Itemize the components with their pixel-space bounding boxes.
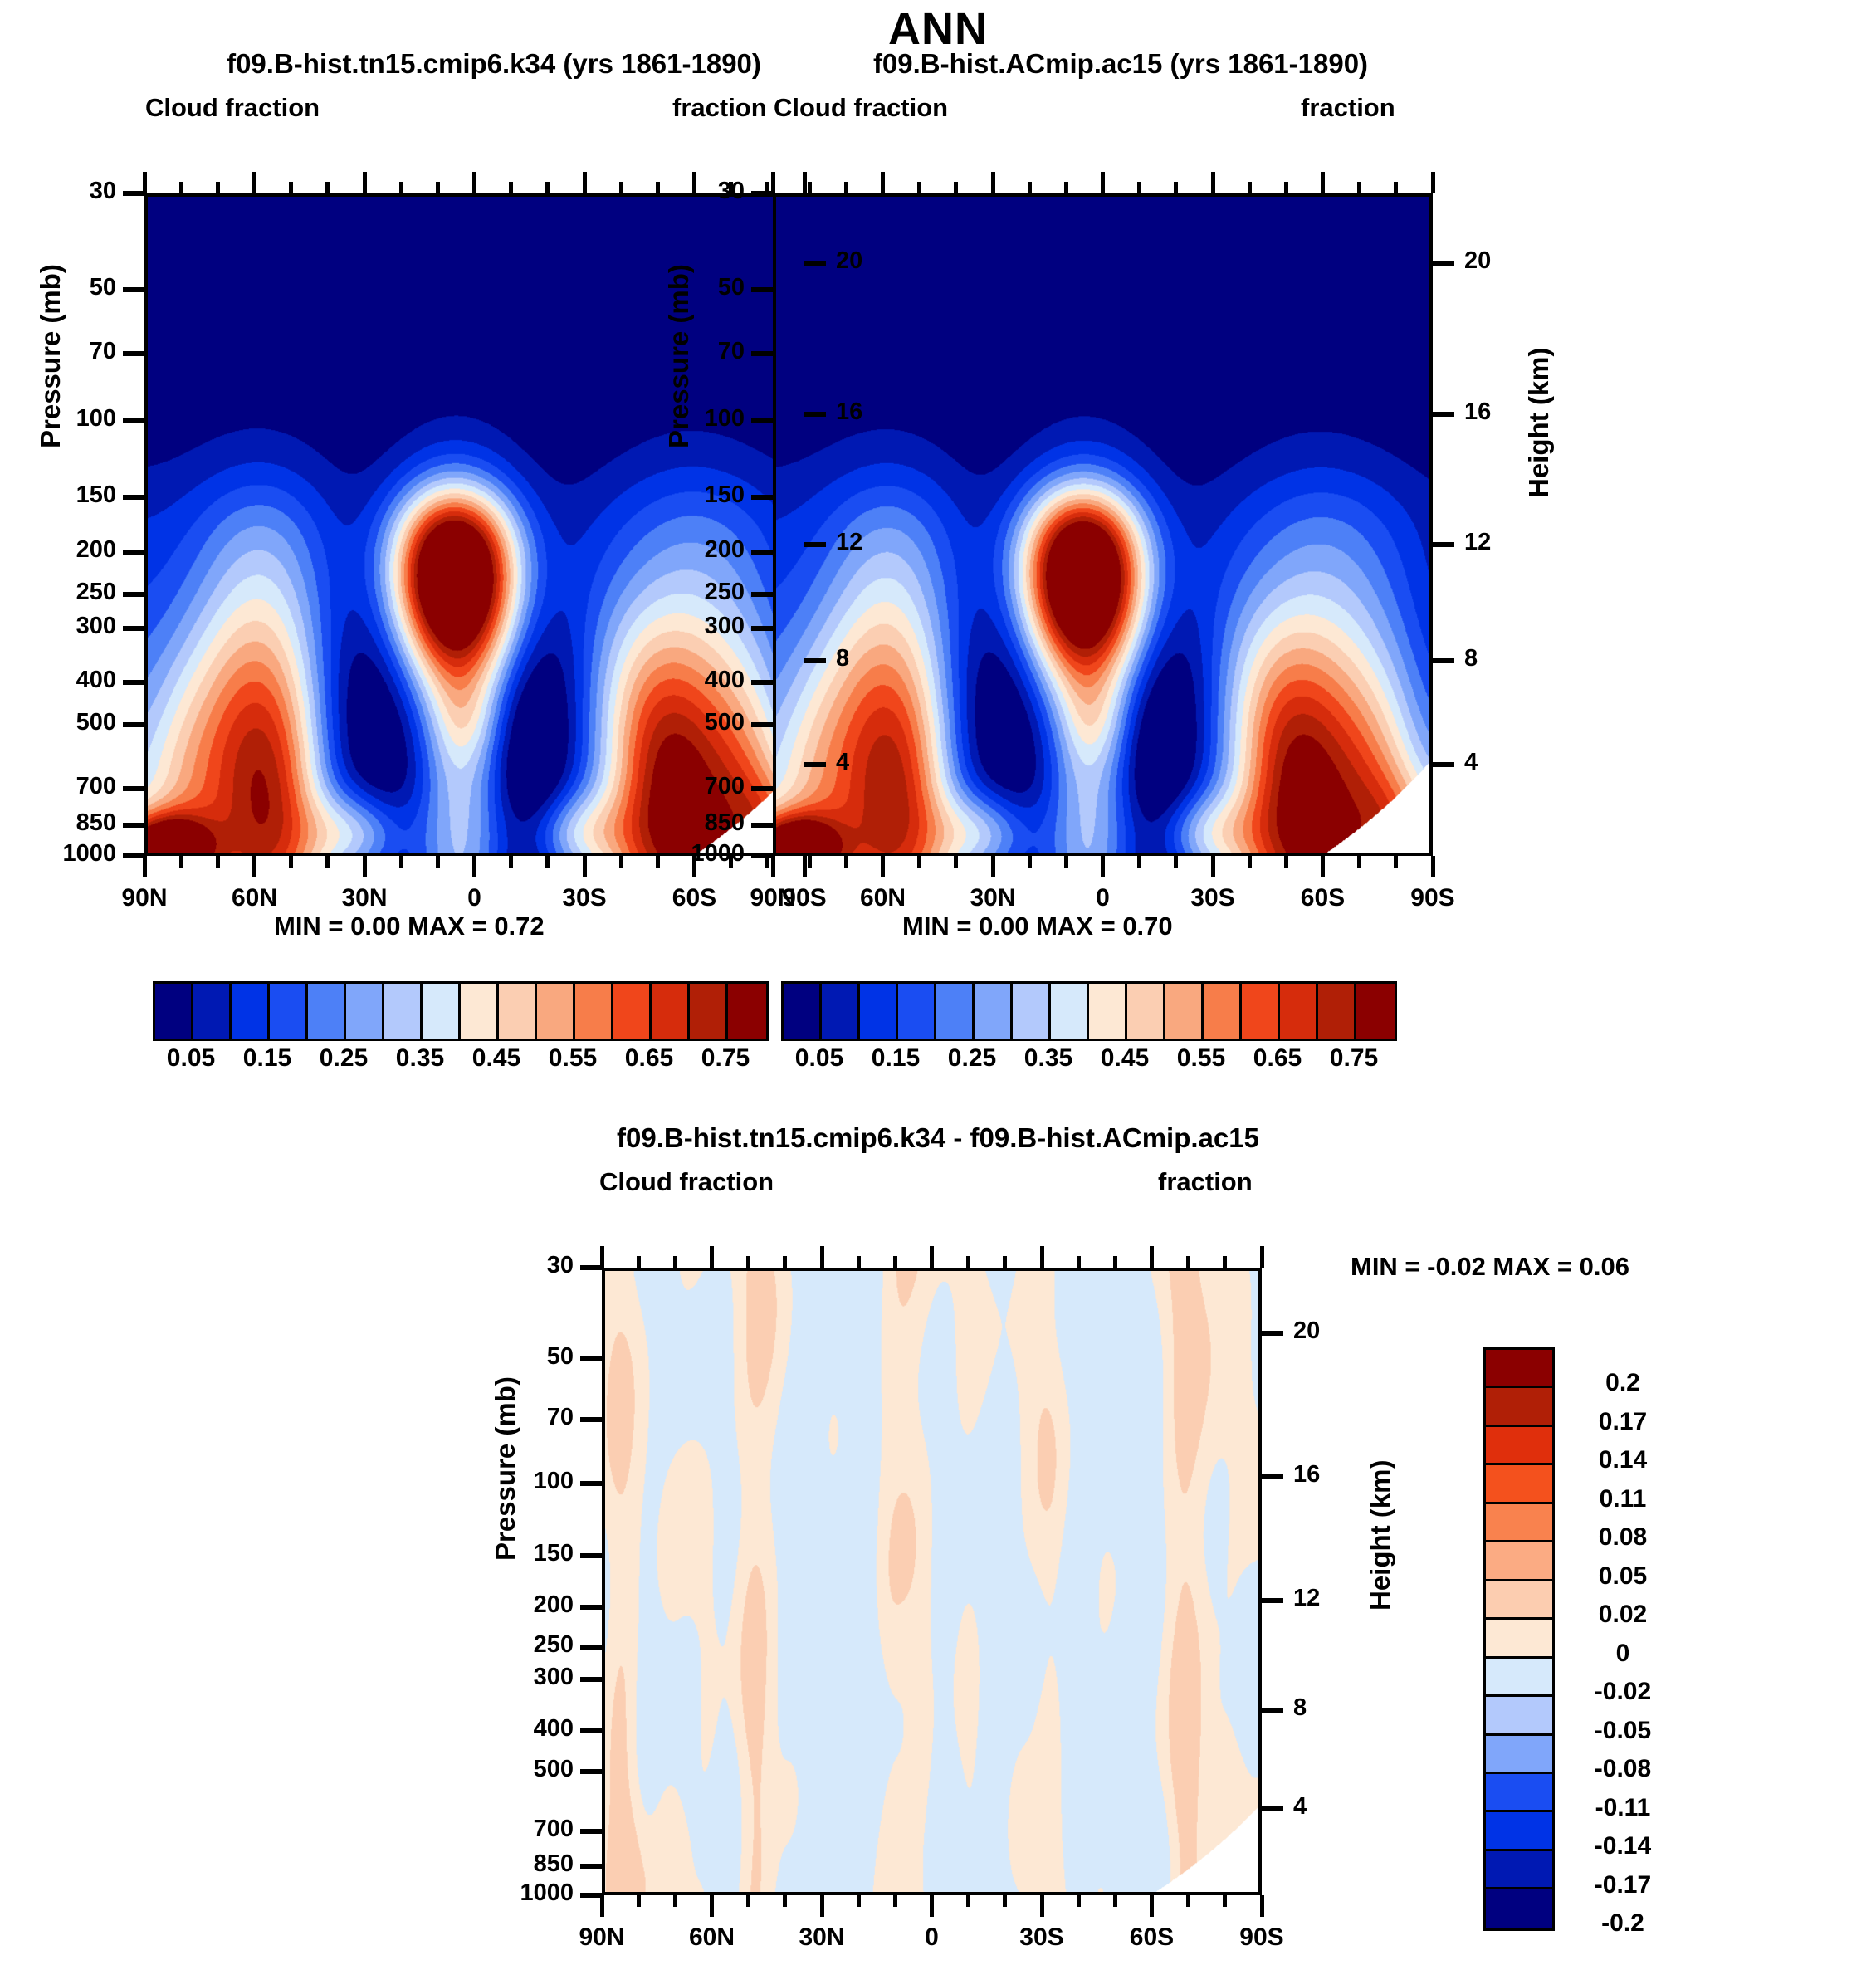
panel-left-colorbar-labels: 0.050.150.250.350.450.550.650.75 [153, 1044, 764, 1078]
figure-root: ANN f09.B-hist.tn15.cmip6.k34 (yrs 1861-… [0, 0, 1876, 1965]
panel-right-xtick-16 [1357, 856, 1361, 868]
panel-right-xtick-top-12 [1211, 172, 1215, 193]
panel-diff-xtick-17 [1223, 1895, 1227, 1907]
panel-left-ytick-label-70: 70 [0, 338, 116, 365]
panel-diff-xtick-14 [1113, 1895, 1117, 1907]
panel-right-xtick-top-11 [1174, 182, 1178, 193]
panel-diff-xtick-7 [857, 1895, 861, 1907]
panel-diff-colorbar-tick-0p17: 0.17 [1561, 1408, 1685, 1436]
panel-left-xtick-18 [803, 856, 807, 877]
panel-right-ytick-30 [751, 191, 773, 196]
panel-right-y2tick-20 [1433, 261, 1454, 266]
panel-right-xtick-top-8 [1064, 182, 1068, 193]
panel-left-xtick-3 [252, 856, 256, 877]
panel-right-minmax: MIN = 0.00 MAX = 0.70 [902, 912, 1173, 941]
panel-right-colorbar-cell-3 [898, 984, 936, 1039]
panel-left-ytick-label-300: 300 [0, 613, 116, 640]
panel-diff-ytick-label-200: 200 [452, 1591, 574, 1619]
panel-diff-y2tick-8 [1262, 1708, 1283, 1713]
panel-right-xtick-10 [1137, 856, 1141, 868]
panel-left-ytick-150 [123, 495, 144, 500]
panel-left-xtick-top-3 [252, 172, 256, 193]
panel-diff-ytick-200 [580, 1605, 602, 1610]
panel-diff-ytick-label-250: 250 [452, 1631, 574, 1659]
panel-diff-xtick-6 [820, 1895, 824, 1917]
panel-diff-colorbar [1483, 1347, 1555, 1931]
panel-diff-xtick-2 [673, 1895, 677, 1907]
panel-right-xtick-top-5 [954, 182, 958, 193]
panel-diff-xtick-top-15 [1150, 1246, 1154, 1268]
panel-diff-colorbar-cell-4 [1486, 1504, 1552, 1542]
panel-left-colorbar-cell-15 [728, 984, 766, 1039]
panel-right-ytick-300 [751, 626, 773, 631]
panel-left-ytick-30 [123, 191, 144, 196]
panel-left-ytick-850 [123, 823, 144, 828]
panel-diff-colorbar-cell-7 [1486, 1620, 1552, 1658]
panel-right-xtick-17 [1394, 856, 1398, 868]
panel-diff-colorbar-cell-3 [1486, 1465, 1552, 1503]
panel-left-xtick-4 [289, 856, 293, 868]
panel-right-colorbar-cell-5 [975, 984, 1013, 1039]
panel-left-ytick-70 [123, 351, 144, 356]
panel-right-y2tick-4 [1433, 762, 1454, 767]
panel-diff-xtick-0 [600, 1895, 604, 1917]
panel-left-colorbar-cell-5 [346, 984, 384, 1039]
panel-right-xtick-top-17 [1394, 182, 1398, 193]
panel-diff-xtick-top-7 [857, 1256, 861, 1268]
panel-left-colorbar-cell-11 [575, 984, 613, 1039]
panel-diff-xtick-top-3 [710, 1246, 714, 1268]
panel-diff-ytick-label-700: 700 [452, 1816, 574, 1843]
panel-diff-unit-label: fraction [1158, 1167, 1253, 1197]
panel-left-colorbar-cell-9 [499, 984, 537, 1039]
panel-left-y2tick-label-20: 20 [836, 247, 911, 275]
panel-left-unit-label: fraction [672, 93, 767, 123]
panel-left-colorbar-cell-3 [270, 984, 308, 1039]
panel-left-ytick-label-200: 200 [0, 536, 116, 564]
panel-left-colorbar-cell-14 [690, 984, 728, 1039]
panel-left-colorbar-cell-13 [652, 984, 690, 1039]
panel-left-xtick-top-8 [436, 182, 440, 193]
panel-left-ytick-label-100: 100 [0, 405, 116, 433]
panel-right-colorbar-cell-8 [1089, 984, 1127, 1039]
panel-left-y2tick-label-8: 8 [836, 645, 911, 672]
panel-diff-colorbar-tick-neg0p05: -0.05 [1561, 1717, 1685, 1745]
panel-diff-colorbar-tick-neg0p02: -0.02 [1561, 1678, 1685, 1706]
panel-diff-xtick-top-6 [820, 1246, 824, 1268]
panel-diff-xtick-1 [637, 1895, 641, 1907]
panel-left-xtick-top-13 [619, 182, 623, 193]
panel-diff-colorbar-tick-0p11: 0.11 [1561, 1485, 1685, 1513]
panel-diff-ytick-150 [580, 1553, 602, 1558]
panel-right-ytick-200 [751, 550, 773, 555]
panel-diff-title: f09.B-hist.tn15.cmip6.k34 - f09.B-hist.A… [440, 1122, 1436, 1154]
panel-diff-xtick-top-9 [930, 1246, 934, 1268]
panel-left-colorbar-cell-2 [232, 984, 270, 1039]
panel-right-xtick-15 [1321, 856, 1325, 877]
panel-right-xtick-label-90S: 90S [1366, 884, 1499, 912]
panel-diff-ytick-1000 [580, 1893, 602, 1898]
panel-right-colorbar-cell-4 [936, 984, 975, 1039]
panel-left-ytick-50 [123, 287, 144, 292]
panel-right-xtick-2 [844, 856, 848, 868]
panel-diff-colorbar-tick-0p08: 0.08 [1561, 1523, 1685, 1552]
panel-right-colorbar-cell-13 [1280, 984, 1318, 1039]
panel-right-ytick-label-1000: 1000 [623, 840, 745, 868]
panel-right-y2tick-16 [1433, 412, 1454, 417]
panel-left-xtick-7 [399, 856, 403, 868]
panel-right-ytick-label-100: 100 [623, 405, 745, 433]
panel-diff-y2tick-label-12: 12 [1293, 1585, 1368, 1612]
panel-diff-ytick-250 [580, 1645, 602, 1650]
panel-diff-ytick-70 [580, 1417, 602, 1422]
panel-right-xtick-4 [917, 856, 921, 868]
panel-right-xtick-14 [1284, 856, 1288, 868]
panel-diff-colorbar-cell-9 [1486, 1697, 1552, 1735]
panel-right-ytick-70 [751, 351, 773, 356]
panel-diff-ytick-label-400: 400 [452, 1715, 574, 1743]
panel-right-xtick-top-2 [844, 182, 848, 193]
panel-left-y2tick-label-4: 4 [836, 749, 911, 776]
panel-right-ytick-100 [751, 418, 773, 423]
panel-left-xtick-13 [619, 856, 623, 868]
panel-right-colorbar [781, 981, 1397, 1041]
panel-left-xtick-top-11 [545, 182, 550, 193]
panel-right-ytick-label-300: 300 [623, 613, 745, 640]
panel-diff-minmax: MIN = -0.02 MAX = 0.06 [1351, 1252, 1629, 1282]
panel-diff-xtick-10 [966, 1895, 970, 1907]
panel-diff-xtick-9 [930, 1895, 934, 1917]
panel-right-colorbar-cell-1 [822, 984, 860, 1039]
panel-diff-y2tick-16 [1262, 1474, 1283, 1479]
panel-diff-colorbar-cell-12 [1486, 1812, 1552, 1850]
panel-left-xtick-top-18 [803, 172, 807, 193]
panel-diff-colorbar-tick-0p2: 0.2 [1561, 1369, 1685, 1397]
panel-right-ytick-label-50: 50 [623, 274, 745, 301]
panel-diff-ytick-30 [580, 1265, 602, 1270]
panel-right-y2tick-12 [1433, 542, 1454, 547]
panel-right-xtick-top-6 [991, 172, 995, 193]
panel-left-ytick-label-850: 850 [0, 809, 116, 837]
panel-left-colorbar-cell-8 [461, 984, 499, 1039]
panel-diff-colorbar-tick-neg0p11: -0.11 [1561, 1794, 1685, 1822]
panel-right-xtick-5 [954, 856, 958, 868]
panel-diff-ytick-300 [580, 1677, 602, 1682]
panel-diff-y2tick-4 [1262, 1806, 1283, 1811]
panel-left-colorbar-cell-1 [193, 984, 232, 1039]
panel-diff-ytick-500 [580, 1769, 602, 1774]
panel-diff-xtick-top-18 [1260, 1246, 1264, 1268]
panel-diff-colorbar-labels: 0.20.170.140.110.080.050.020-0.02-0.05-0… [1561, 1347, 1685, 1926]
panel-left-xtick-top-1 [179, 182, 183, 193]
panel-diff-ytick-850 [580, 1864, 602, 1869]
panel-diff-xtick-16 [1186, 1895, 1190, 1907]
panel-right-xtick-top-16 [1357, 182, 1361, 193]
panel-left-ytick-300 [123, 626, 144, 631]
panel-diff-xtick-top-8 [893, 1256, 897, 1268]
panel-right-y2tick-label-20: 20 [1464, 247, 1539, 275]
panel-diff-xtick-top-5 [783, 1256, 787, 1268]
panel-left-xtick-5 [325, 856, 330, 868]
panel-right-title: f09.B-hist.ACmip.ac15 (yrs 1861-1890) [701, 48, 1540, 80]
panel-right-xtick-top-0 [771, 172, 775, 193]
panel-right-colorbar-cell-6 [1013, 984, 1051, 1039]
panel-right-ytick-label-500: 500 [623, 709, 745, 736]
panel-right-xtick-3 [881, 856, 885, 877]
panel-diff-xtick-12 [1040, 1895, 1044, 1917]
panel-left-y2tick-16 [804, 412, 826, 417]
panel-right-y2tick-label-8: 8 [1464, 645, 1539, 672]
panel-right-xtick-top-7 [1028, 182, 1032, 193]
panel-diff-colorbar-tick-neg0p14: -0.14 [1561, 1832, 1685, 1860]
panel-diff-ytick-label-50: 50 [452, 1343, 574, 1371]
panel-diff-xtick-top-14 [1113, 1256, 1117, 1268]
panel-left-xtick-top-5 [325, 182, 330, 193]
panel-left-colorbar-cell-0 [155, 984, 193, 1039]
panel-right-colorbar-cell-7 [1051, 984, 1089, 1039]
panel-diff-xtick-18 [1260, 1895, 1264, 1917]
panel-diff-y2tick-label-4: 4 [1293, 1793, 1368, 1821]
panel-left-xtick-9 [472, 856, 476, 877]
panel-diff-xtick-top-2 [673, 1256, 677, 1268]
panel-diff-colorbar-cell-1 [1486, 1388, 1552, 1426]
panel-left-colorbar-cell-10 [537, 984, 575, 1039]
panel-diff-xtick-top-1 [637, 1256, 641, 1268]
panel-diff-ytick-label-500: 500 [452, 1756, 574, 1783]
panel-right-xtick-18 [1431, 856, 1435, 877]
panel-diff-xtick-top-12 [1040, 1246, 1044, 1268]
panel-diff-ytick-400 [580, 1728, 602, 1733]
panel-right-ytick-1000 [751, 853, 773, 858]
panel-right-ytick-label-400: 400 [623, 667, 745, 694]
panel-diff-xtick-5 [783, 1895, 787, 1907]
panel-right-colorbar-cell-0 [784, 984, 822, 1039]
panel-right-xtick-top-13 [1248, 182, 1252, 193]
panel-left-ytick-label-700: 700 [0, 773, 116, 800]
panel-diff-colorbar-tick-0p14: 0.14 [1561, 1446, 1685, 1474]
panel-diff-colorbar-tick-neg0p17: -0.17 [1561, 1871, 1685, 1899]
panel-diff-colorbar-tick-0p02: 0.02 [1561, 1601, 1685, 1629]
panel-right-colorbar-cell-2 [860, 984, 898, 1039]
panel-left-xtick-top-12 [583, 172, 587, 193]
panel-left-colorbar-cell-7 [423, 984, 461, 1039]
panel-right-ytick-250 [751, 592, 773, 597]
panel-right-ytick-400 [751, 680, 773, 685]
panel-diff-xtick-top-11 [1003, 1256, 1007, 1268]
panel-diff-colorbar-cell-0 [1486, 1350, 1552, 1388]
panel-diff-colorbar-cell-14 [1486, 1889, 1552, 1928]
panel-right-ytick-850 [751, 823, 773, 828]
panel-right-ytick-label-250: 250 [623, 579, 745, 606]
panel-left-ytick-label-500: 500 [0, 709, 116, 736]
panel-left-xtick-top-9 [472, 172, 476, 193]
panel-diff-variable-label: Cloud fraction [599, 1167, 774, 1197]
panel-left-ytick-label-1000: 1000 [0, 840, 116, 868]
panel-left-colorbar-cell-4 [308, 984, 346, 1039]
panel-right-ytick-700 [751, 786, 773, 791]
panel-left-ytick-400 [123, 680, 144, 685]
panel-left-ytick-500 [123, 722, 144, 727]
panel-left-colorbar-tick-0.75: 0.75 [676, 1044, 775, 1073]
panel-right-xtick-top-1 [808, 182, 812, 193]
panel-right-colorbar-cell-12 [1242, 984, 1280, 1039]
panel-left-xtick-top-7 [399, 182, 403, 193]
panel-diff-colorbar-tick-neg0p08: -0.08 [1561, 1755, 1685, 1783]
panel-diff-xtick-3 [710, 1895, 714, 1917]
panel-right-y2tick-label-16: 16 [1464, 398, 1539, 426]
panel-right-xtick-top-9 [1101, 172, 1105, 193]
panel-diff-xtick-top-0 [600, 1246, 604, 1268]
panel-diff-colorbar-cell-8 [1486, 1659, 1552, 1697]
panel-diff-ytick-label-850: 850 [452, 1850, 574, 1878]
panel-left-ytick-label-400: 400 [0, 667, 116, 694]
panel-diff-ytick-label-30: 30 [452, 1252, 574, 1279]
panel-right-y2tick-label-4: 4 [1464, 749, 1539, 776]
panel-diff-xtick-top-13 [1077, 1256, 1081, 1268]
panel-right-y2tick-8 [1433, 658, 1454, 663]
panel-right-ytick-150 [751, 495, 773, 500]
panel-right-unit-label: fraction [1301, 93, 1395, 123]
panel-left-xtick-top-2 [216, 182, 220, 193]
panel-diff-colorbar-cell-13 [1486, 1851, 1552, 1889]
panel-left-minmax: MIN = 0.00 MAX = 0.72 [274, 912, 545, 941]
panel-diff-ytick-700 [580, 1829, 602, 1834]
panel-right-xtick-11 [1174, 856, 1178, 868]
panel-diff-colorbar-tick-0: 0 [1561, 1640, 1685, 1668]
panel-left-ytick-200 [123, 550, 144, 555]
panel-right-ytick-50 [751, 287, 773, 292]
panel-diff-xtick-label-90S: 90S [1195, 1923, 1328, 1952]
panel-diff-xtick-top-4 [746, 1256, 750, 1268]
panel-right-xtick-1 [808, 856, 812, 868]
panel-diff-ytick-label-1000: 1000 [452, 1879, 574, 1907]
panel-diff-ytick-100 [580, 1481, 602, 1486]
panel-diff-xtick-top-16 [1186, 1256, 1190, 1268]
panel-diff-contour-canvas [605, 1271, 1258, 1892]
panel-left-xtick-10 [509, 856, 513, 868]
panel-left-xtick-2 [216, 856, 220, 868]
panel-right-colorbar-cell-11 [1204, 984, 1242, 1039]
panel-diff-colorbar-tick-neg0p2: -0.2 [1561, 1909, 1685, 1938]
panel-left-ytick-label-30: 30 [0, 178, 116, 205]
panel-diff-colorbar-tick-0p05: 0.05 [1561, 1562, 1685, 1591]
panel-left-y2tick-20 [804, 261, 826, 266]
panel-left-y2tick-label-16: 16 [836, 398, 911, 426]
panel-left-xtick-11 [545, 856, 550, 868]
panel-left-ytick-250 [123, 592, 144, 597]
panel-diff-colorbar-cell-6 [1486, 1581, 1552, 1620]
panel-left-xtick-12 [583, 856, 587, 877]
panel-diff-colorbar-cell-11 [1486, 1774, 1552, 1812]
panel-diff-y2tick-20 [1262, 1331, 1283, 1336]
panel-left-xtick-8 [436, 856, 440, 868]
panel-diff-plot [602, 1268, 1262, 1895]
panel-diff-y2tick-label-20: 20 [1293, 1317, 1368, 1345]
panel-diff-xtick-11 [1003, 1895, 1007, 1907]
panel-right-xtick-top-3 [881, 172, 885, 193]
panel-right-xtick-13 [1248, 856, 1252, 868]
panel-diff-colorbar-cell-10 [1486, 1736, 1552, 1774]
panel-right-ytick-label-850: 850 [623, 809, 745, 837]
panel-right-xtick-6 [991, 856, 995, 877]
panel-left-y2tick-4 [804, 762, 826, 767]
panel-left-colorbar [153, 981, 769, 1041]
panel-left-xtick-top-0 [143, 172, 147, 193]
panel-left-y2tick-12 [804, 542, 826, 547]
panel-left-ytick-label-250: 250 [0, 579, 116, 606]
panel-left-xtick-6 [363, 856, 367, 877]
panel-diff-xtick-15 [1150, 1895, 1154, 1917]
panel-diff-y2tick-label-16: 16 [1293, 1461, 1368, 1488]
panel-diff-y2tick-label-8: 8 [1293, 1694, 1368, 1722]
panel-right-ytick-label-200: 200 [623, 536, 745, 564]
panel-right-xtick-top-18 [1431, 172, 1435, 193]
panel-left-xtick-top-6 [363, 172, 367, 193]
panel-diff-ytick-label-100: 100 [452, 1468, 574, 1495]
panel-left-ytick-1000 [123, 853, 144, 858]
panel-right-ytick-label-150: 150 [623, 481, 745, 509]
panel-right-xtick-top-14 [1284, 182, 1288, 193]
panel-right-ytick-500 [751, 722, 773, 727]
panel-diff-xtick-4 [746, 1895, 750, 1907]
panel-right-colorbar-tick-0.75: 0.75 [1304, 1044, 1404, 1073]
panel-right-colorbar-cell-14 [1318, 984, 1356, 1039]
panel-right-y2tick-label-12: 12 [1464, 529, 1539, 556]
panel-left-ytick-label-150: 150 [0, 481, 116, 509]
panel-left-xtick-1 [179, 856, 183, 868]
panel-diff-y2tick-12 [1262, 1598, 1283, 1603]
panel-right-xtick-7 [1028, 856, 1032, 868]
panel-left-ytick-700 [123, 786, 144, 791]
panel-left-variable-label: Cloud fraction [145, 93, 320, 123]
panel-right-ytick-label-700: 700 [623, 773, 745, 800]
panel-right-xtick-8 [1064, 856, 1068, 868]
panel-diff-ytick-label-150: 150 [452, 1540, 574, 1567]
panel-diff-xtick-13 [1077, 1895, 1081, 1907]
panel-right-colorbar-cell-9 [1127, 984, 1165, 1039]
panel-left-ytick-label-50: 50 [0, 274, 116, 301]
panel-right-colorbar-cell-10 [1165, 984, 1204, 1039]
panel-diff-ytick-label-70: 70 [452, 1404, 574, 1431]
panel-diff-y2label: Height (km) [1365, 1460, 1396, 1611]
panel-left-ytick-100 [123, 418, 144, 423]
panel-diff-xtick-8 [893, 1895, 897, 1907]
panel-left-xtick-top-10 [509, 182, 513, 193]
panel-right-xtick-top-4 [917, 182, 921, 193]
panel-left-y2tick-label-12: 12 [836, 529, 911, 556]
panel-diff-xtick-top-10 [966, 1256, 970, 1268]
panel-diff-colorbar-cell-2 [1486, 1427, 1552, 1465]
panel-left-y2tick-8 [804, 658, 826, 663]
panel-right-ytick-label-30: 30 [623, 178, 745, 205]
panel-left-xtick-top-4 [289, 182, 293, 193]
panel-left-colorbar-cell-6 [384, 984, 423, 1039]
panel-right-xtick-0 [771, 856, 775, 877]
panel-right-ytick-label-70: 70 [623, 338, 745, 365]
panel-left-xtick-0 [143, 856, 147, 877]
panel-right-xtick-top-15 [1321, 172, 1325, 193]
panel-diff-ytick-label-300: 300 [452, 1664, 574, 1691]
panel-right-colorbar-cell-15 [1356, 984, 1395, 1039]
panel-diff-colorbar-cell-5 [1486, 1542, 1552, 1581]
panel-right-variable-label: Cloud fraction [774, 93, 948, 123]
figure-suptitle: ANN [0, 3, 1876, 55]
panel-right-xtick-12 [1211, 856, 1215, 877]
panel-diff-ytick-50 [580, 1356, 602, 1361]
panel-right-colorbar-labels: 0.050.150.250.350.450.550.650.75 [781, 1044, 1392, 1078]
panel-left-colorbar-cell-12 [613, 984, 652, 1039]
panel-right-xtick-top-10 [1137, 182, 1141, 193]
